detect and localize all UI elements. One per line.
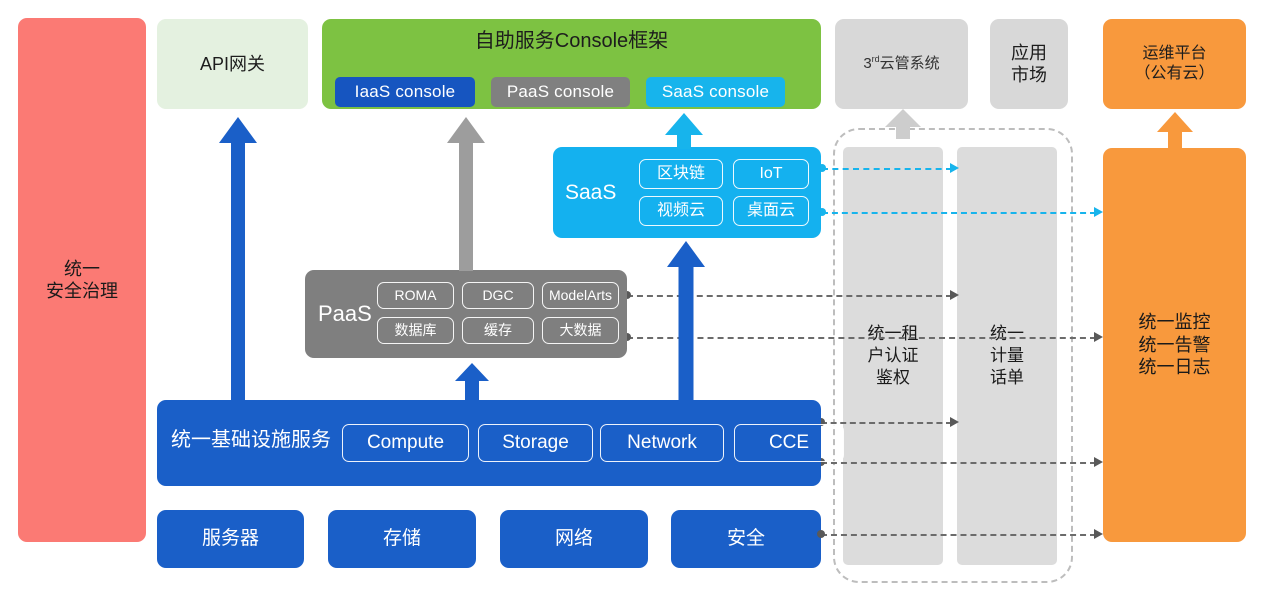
app-market-box: 应用市场 [990,19,1068,109]
arrow-infra-to-saas [667,241,705,401]
saas-chip-iot[interactable]: IoT [733,159,809,189]
ops-platform-label: 运维平台（公有云） [1134,44,1214,84]
saas-layer-label: SaaS [565,180,616,206]
app-market-label: 应用市场 [1011,42,1047,87]
architecture-diagram: 统一租户认证鉴权 统一计量话单 统一安全治理 API网关 自助服务Console… [0,0,1265,605]
third-party-cloud-mgmt-box: 3rd云管系统 [835,19,968,109]
arrow-infra-to-api-gateway [219,117,257,401]
hardware-box-server: 服务器 [157,510,304,568]
hardware-box-network: 网络 [500,510,648,568]
iaas-console-label: IaaS console [355,81,456,102]
connector-arrowhead-infra-to-auth [950,417,959,427]
console-framework-box: 自助服务Console框架 IaaS console PaaS console … [322,19,821,109]
connector-arrowhead-saas-to-ops [1094,207,1103,217]
api-gateway-box: API网关 [157,19,308,109]
paas-chip-modelarts[interactable]: ModelArts [542,282,619,309]
paas-chip-dgc[interactable]: DGC [462,282,534,309]
saas-layer-box: SaaS 区块链 IoT 视频云 桌面云 [553,147,821,238]
api-gateway-label: API网关 [200,53,265,76]
unified-infrastructure-label: 统一基础设施服务 [171,428,331,453]
security-governance-label: 统一安全治理 [46,258,118,303]
paas-chip-cache[interactable]: 缓存 [462,317,534,344]
hardware-label-storage: 存储 [383,527,421,551]
hardware-label-network: 网络 [555,527,593,551]
connector-arrowhead-paas-to-ops [1094,332,1103,342]
third-party-cloud-mgmt-label: 3rd云管系统 [863,54,939,74]
connector-arrowhead-infra-to-ops [1094,457,1103,467]
unified-infrastructure-bar: 统一基础设施服务 Compute Storage Network CCE [157,400,821,486]
arrow-monitoring-to-ops-platform [1157,112,1193,148]
arrow-to-third-party-cloud [885,109,921,139]
ops-platform-public-cloud-box: 运维平台（公有云） [1103,19,1246,109]
infra-chip-cce[interactable]: CCE [734,424,844,462]
connector-arrowhead-paas-to-auth [950,290,959,300]
infra-chip-storage[interactable]: Storage [478,424,593,462]
connector-infra-to-ops [821,462,1096,464]
saas-chip-video-cloud[interactable]: 视频云 [639,196,723,226]
connector-hardware-to-ops [821,534,1096,536]
saas-console-button[interactable]: SaaS console [646,77,785,107]
paas-console-label: PaaS console [507,81,614,102]
arrow-paas-to-console [447,117,485,271]
infra-chip-compute[interactable]: Compute [342,424,469,462]
hardware-box-security: 安全 [671,510,821,568]
unified-monitoring-label: 统一监控统一告警统一日志 [1139,311,1211,379]
arrow-infra-to-paas [455,363,489,401]
hardware-box-storage: 存储 [328,510,476,568]
paas-console-button[interactable]: PaaS console [491,77,630,107]
hardware-label-security: 安全 [727,527,765,551]
saas-chip-blockchain[interactable]: 区块链 [639,159,723,189]
infra-chip-network[interactable]: Network [600,424,724,462]
connector-infra-to-auth [821,422,952,424]
connector-saas-to-auth [822,168,952,170]
gray-column-metering-label: 统一计量话单 [990,323,1024,389]
connector-dot-hardware [817,530,825,538]
console-framework-title: 自助服务Console框架 [322,29,821,54]
saas-chip-desktop-cloud[interactable]: 桌面云 [733,196,809,226]
paas-chip-bigdata[interactable]: 大数据 [542,317,619,344]
paas-layer-label: PaaS [318,300,372,328]
hardware-label-server: 服务器 [202,527,259,551]
paas-chip-roma[interactable]: ROMA [377,282,454,309]
connector-arrowhead-saas-to-auth [950,163,959,173]
gray-column-metering: 统一计量话单 [957,147,1057,565]
arrow-saas-to-console [665,113,703,149]
gray-column-tenant-auth: 统一租户认证鉴权 [843,147,943,565]
security-governance-panel: 统一安全治理 [18,18,146,542]
connector-arrowhead-hardware-to-ops [1094,529,1103,539]
paas-layer-box: PaaS ROMA DGC ModelArts 数据库 缓存 大数据 [305,270,627,358]
iaas-console-button[interactable]: IaaS console [335,77,475,107]
saas-console-label: SaaS console [662,81,769,102]
gray-column-tenant-auth-label: 统一租户认证鉴权 [868,323,919,389]
connector-saas-to-ops [822,212,1096,214]
unified-monitoring-panel: 统一监控统一告警统一日志 [1103,148,1246,542]
paas-chip-database[interactable]: 数据库 [377,317,454,344]
